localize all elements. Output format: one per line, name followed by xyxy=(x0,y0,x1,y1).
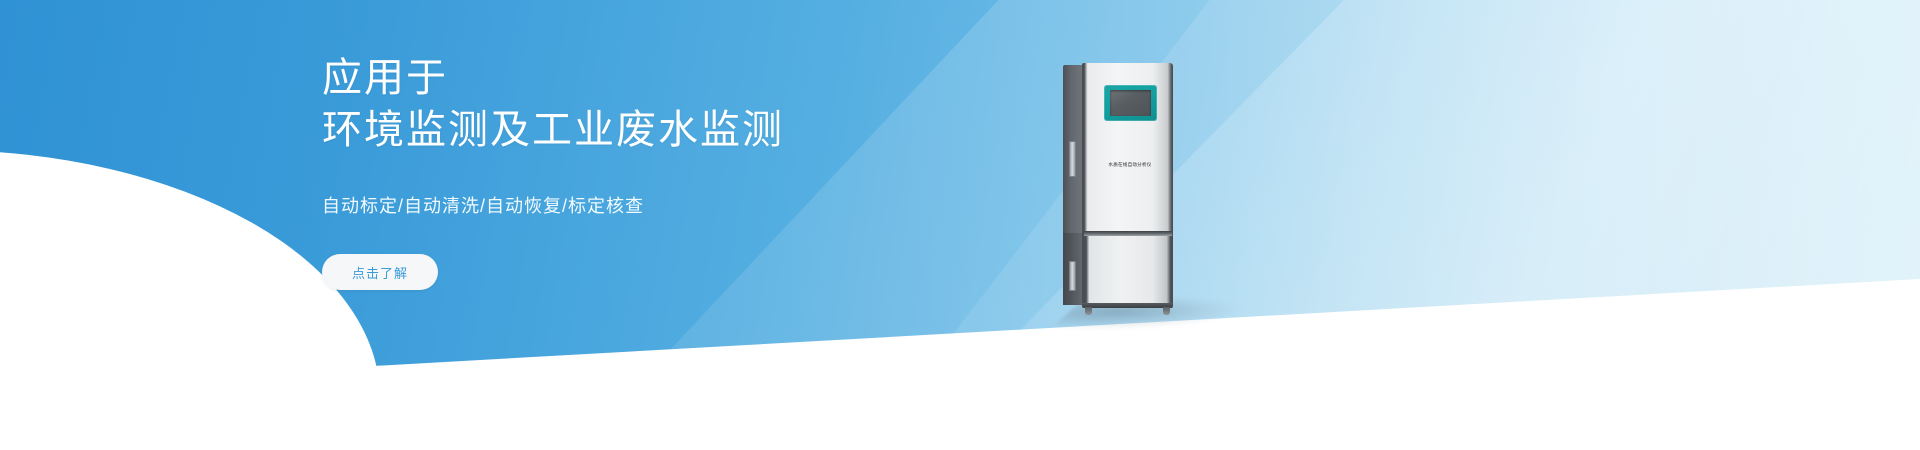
product-analyzer-cabinet: 水质在线自动分析仪 xyxy=(1063,63,1175,310)
product-label-text: 水质在线自动分析仪 xyxy=(1091,163,1169,169)
analyzer-screen-bezel xyxy=(1104,85,1157,121)
cabinet-base xyxy=(1082,303,1173,308)
caster-wheel-right xyxy=(1163,307,1170,315)
cabinet-upper-handle xyxy=(1069,141,1076,177)
cabinet-lower-handle xyxy=(1069,261,1076,291)
hero-banner: 应用于 环境监测及工业废水监测 自动标定/自动清洗/自动恢复/标定核查 点击了解… xyxy=(0,0,1920,450)
cabinet-lower-door xyxy=(1084,236,1172,306)
caster-wheel-left xyxy=(1085,307,1092,315)
learn-more-button[interactable]: 点击了解 xyxy=(322,254,438,290)
analyzer-screen xyxy=(1110,90,1151,116)
headline-line-2: 环境监测及工业废水监测 xyxy=(322,104,1082,156)
banner-copy: 应用于 环境监测及工业废水监测 自动标定/自动清洗/自动恢复/标定核查 点击了解 xyxy=(322,52,1082,290)
headline-line-1: 应用于 xyxy=(322,52,1082,104)
subheadline: 自动标定/自动清洗/自动恢复/标定核查 xyxy=(322,192,1082,218)
